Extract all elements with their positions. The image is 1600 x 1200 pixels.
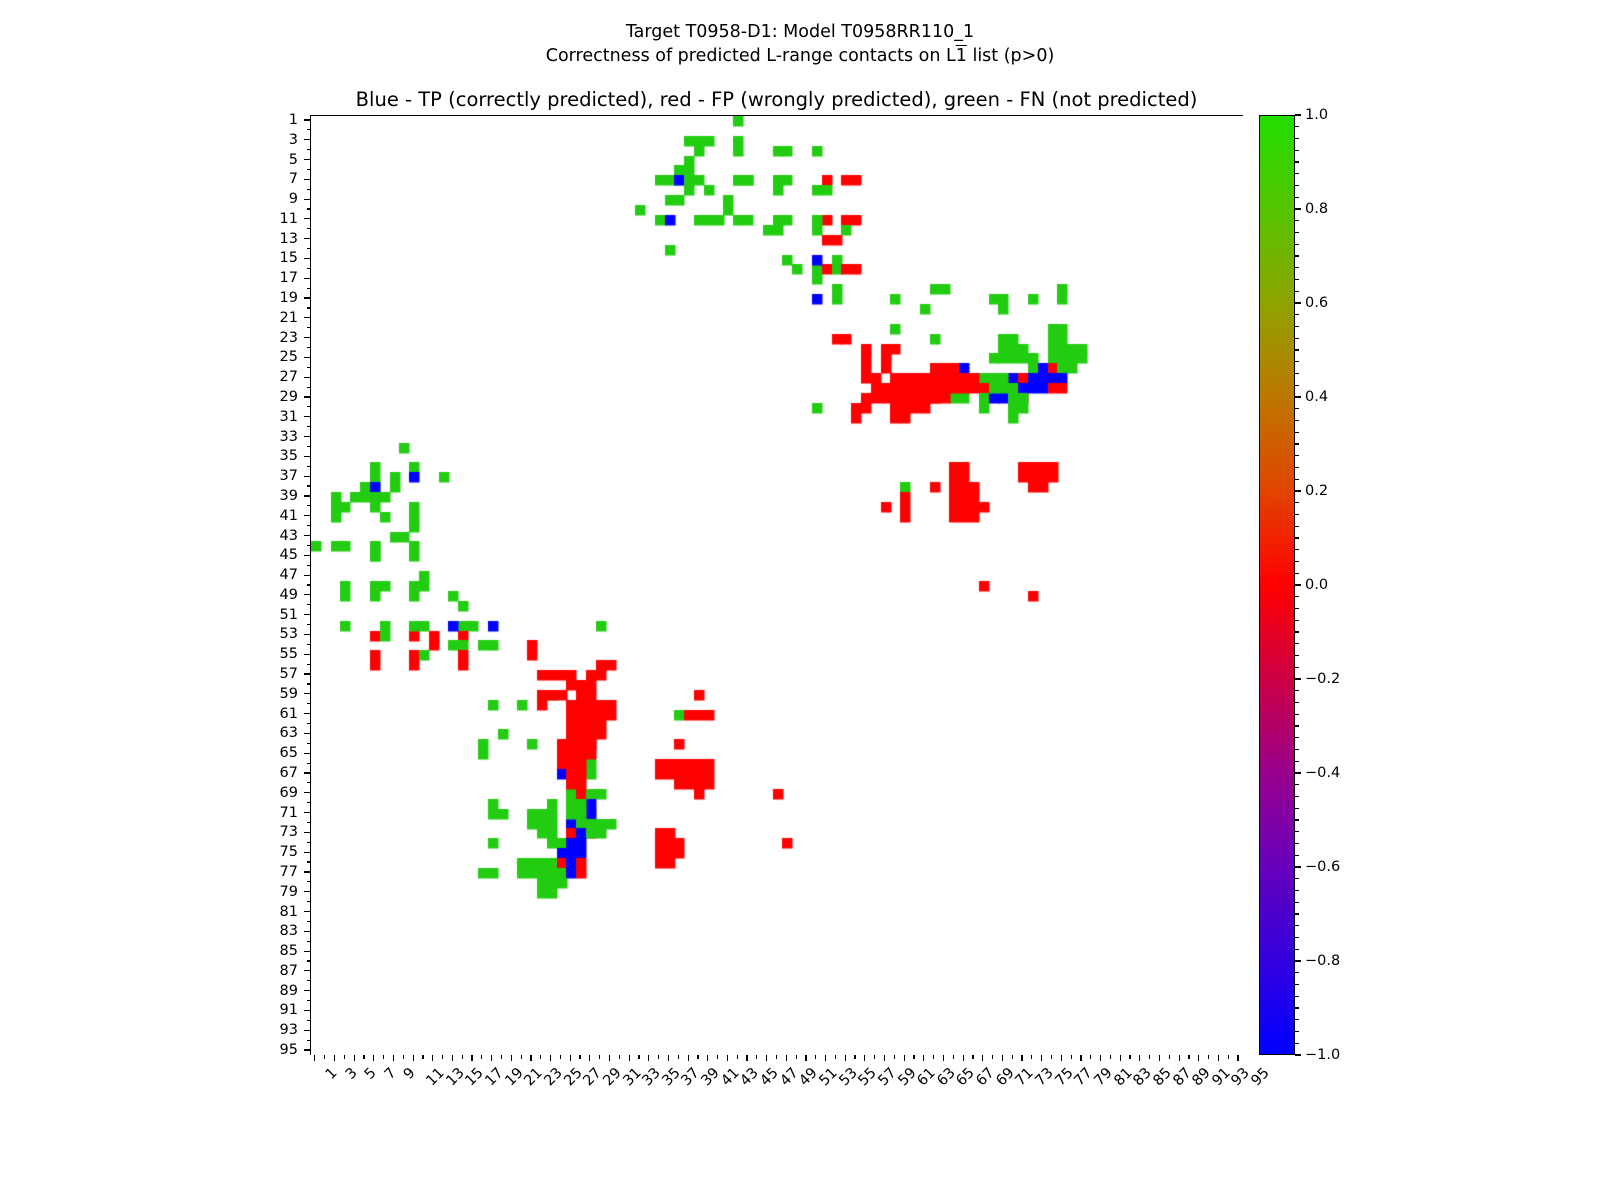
y-tick-label: 61 — [258, 707, 298, 721]
colorbar-tick-mark — [1295, 678, 1301, 679]
colorbar-tick-mark — [1295, 902, 1299, 903]
x-tick-label: 69 — [993, 1065, 1017, 1089]
x-tick-label: 13 — [443, 1065, 467, 1089]
colorbar-tick-mark — [1295, 620, 1299, 621]
y-tick-label: 49 — [258, 588, 298, 602]
y-tick-label: 29 — [258, 390, 298, 404]
colorbar-tick-mark — [1295, 949, 1299, 950]
x-tick-label: 21 — [522, 1065, 546, 1089]
y-tick-label: 65 — [258, 746, 298, 760]
y-tick-label: 9 — [258, 192, 298, 206]
colorbar-tick-mark — [1295, 267, 1299, 268]
colorbar-tick-mark — [1295, 443, 1299, 444]
x-tick-label: 41 — [718, 1065, 742, 1089]
x-tick-label: 51 — [816, 1065, 840, 1089]
colorbar-tick-mark — [1295, 937, 1299, 938]
contact-map-heatmap — [311, 116, 1244, 1056]
colorbar-tick-mark — [1295, 479, 1299, 480]
colorbar-tick-mark — [1295, 385, 1299, 386]
colorbar-tick-mark — [1295, 126, 1299, 127]
x-tick-label: 33 — [640, 1065, 664, 1089]
colorbar-tick-mark — [1295, 455, 1299, 456]
colorbar-tick-mark — [1295, 396, 1301, 397]
y-tick-label: 77 — [258, 865, 298, 879]
colorbar-tick-mark — [1295, 361, 1299, 362]
colorbar-tick-mark — [1295, 173, 1299, 174]
colorbar-tick-mark — [1295, 972, 1299, 973]
colorbar-tick-mark — [1295, 1054, 1301, 1055]
colorbar-tick-mark — [1295, 150, 1299, 151]
x-tick-label: 57 — [875, 1065, 899, 1089]
figure-title-line2: Correctness of predicted L-range contact… — [0, 44, 1600, 68]
y-tick-label: 67 — [258, 766, 298, 780]
x-tick-label: 63 — [934, 1065, 958, 1089]
x-tick-label: 15 — [463, 1065, 487, 1089]
colorbar-tick-mark — [1295, 314, 1299, 315]
x-tick-label: 55 — [856, 1065, 880, 1089]
colorbar-tick-mark — [1295, 655, 1299, 656]
colorbar-tick-mark — [1295, 831, 1299, 832]
colorbar-tick-mark — [1295, 866, 1301, 867]
colorbar — [1259, 115, 1295, 1055]
colorbar-tick-mark — [1295, 584, 1301, 585]
x-tick-label: 85 — [1150, 1065, 1174, 1089]
colorbar-tick-mark — [1295, 784, 1299, 785]
colorbar-tick-mark — [1295, 855, 1299, 856]
y-tick-label: 37 — [258, 469, 298, 483]
colorbar-tick-label: 0.6 — [1305, 295, 1328, 311]
x-tick-label: 67 — [973, 1065, 997, 1089]
colorbar-tick-mark — [1295, 114, 1301, 115]
y-tick-label: 21 — [258, 311, 298, 325]
x-tick-label: 37 — [679, 1065, 703, 1089]
x-tick-label: 27 — [581, 1065, 605, 1089]
colorbar-tick-mark — [1295, 561, 1299, 562]
colorbar-tick-mark — [1295, 631, 1299, 632]
x-tick-label: 61 — [915, 1065, 939, 1089]
y-tick-label: 89 — [258, 984, 298, 998]
x-tick-label: 7 — [382, 1065, 400, 1083]
colorbar-tick-mark — [1295, 643, 1299, 644]
y-tick-label: 41 — [258, 509, 298, 523]
y-tick-label: 13 — [258, 232, 298, 246]
colorbar-tick-mark — [1295, 737, 1299, 738]
colorbar-tick-mark — [1295, 549, 1299, 550]
x-tick-label: 95 — [1248, 1065, 1272, 1089]
y-tick-label: 83 — [258, 924, 298, 938]
colorbar-tick-mark — [1295, 161, 1299, 162]
y-tick-label: 17 — [258, 271, 298, 285]
x-tick-label: 89 — [1190, 1065, 1214, 1089]
x-tick-label: 79 — [1091, 1065, 1115, 1089]
colorbar-tick-label: 0.8 — [1305, 201, 1328, 217]
x-tick-label: 93 — [1229, 1065, 1253, 1089]
figure-title-line2-pre: Correctness of predicted L-range contact… — [546, 46, 956, 66]
colorbar-tick-mark — [1295, 185, 1299, 186]
colorbar-tick-mark — [1295, 279, 1299, 280]
x-tick-label: 43 — [738, 1065, 762, 1089]
colorbar-tick-mark — [1295, 890, 1299, 891]
y-tick-label: 85 — [258, 944, 298, 958]
x-tick-label: 17 — [482, 1065, 506, 1089]
y-tick-label: 35 — [258, 449, 298, 463]
x-tick-label: 49 — [797, 1065, 821, 1089]
colorbar-tick-mark — [1295, 208, 1301, 209]
x-tick-label: 29 — [600, 1065, 624, 1089]
colorbar-tick-label: 0.4 — [1305, 389, 1328, 405]
x-tick-label: 19 — [502, 1065, 526, 1089]
y-tick-label: 27 — [258, 370, 298, 384]
y-tick-label: 7 — [258, 172, 298, 186]
colorbar-tick-label: 1.0 — [1305, 107, 1328, 123]
y-tick-label: 25 — [258, 350, 298, 364]
x-tick-label: 9 — [401, 1065, 419, 1083]
y-tick-label: 31 — [258, 410, 298, 424]
colorbar-tick-mark — [1295, 761, 1299, 762]
colorbar-tick-mark — [1295, 796, 1299, 797]
colorbar-tick-mark — [1295, 420, 1299, 421]
colorbar-tick-label: −0.4 — [1305, 765, 1340, 781]
x-tick-label: 71 — [1013, 1065, 1037, 1089]
colorbar-gradient — [1259, 115, 1295, 1055]
colorbar-tick-mark — [1295, 1019, 1299, 1020]
y-tick-label: 15 — [258, 251, 298, 265]
x-tick-label: 1 — [323, 1065, 341, 1083]
colorbar-tick-mark — [1295, 1007, 1299, 1008]
colorbar-tick-mark — [1295, 1031, 1299, 1032]
colorbar-tick-mark — [1295, 220, 1299, 221]
y-tick-label: 5 — [258, 153, 298, 167]
colorbar-tick-mark — [1295, 702, 1299, 703]
y-tick-label: 95 — [258, 1043, 298, 1057]
colorbar-tick-mark — [1295, 326, 1299, 327]
y-tick-label: 63 — [258, 726, 298, 740]
colorbar-tick-mark — [1295, 490, 1301, 491]
colorbar-tick-mark — [1295, 197, 1299, 198]
colorbar-tick-mark — [1295, 878, 1299, 879]
x-tick-label: 53 — [836, 1065, 860, 1089]
x-tick-label: 5 — [362, 1065, 380, 1083]
x-tick-label: 91 — [1209, 1065, 1233, 1089]
colorbar-tick-mark — [1295, 502, 1299, 503]
colorbar-tick-mark — [1295, 690, 1299, 691]
x-tick-label: 75 — [1052, 1065, 1076, 1089]
colorbar-tick-mark — [1295, 913, 1299, 914]
contact-map-plot-area — [310, 115, 1243, 1055]
colorbar-tick-label: 0.2 — [1305, 483, 1328, 499]
colorbar-tick-mark — [1295, 514, 1299, 515]
colorbar-tick-mark — [1295, 537, 1299, 538]
y-tick-label: 45 — [258, 548, 298, 562]
x-tick-label: 73 — [1032, 1065, 1056, 1089]
y-tick-label: 81 — [258, 905, 298, 919]
colorbar-tick-mark — [1295, 749, 1299, 750]
colorbar-tick-mark — [1295, 1043, 1299, 1044]
x-tick-label: 83 — [1131, 1065, 1155, 1089]
colorbar-tick-mark — [1295, 725, 1299, 726]
x-tick-label: 23 — [541, 1065, 565, 1089]
colorbar-tick-label: −0.2 — [1305, 671, 1340, 687]
y-tick-label: 59 — [258, 687, 298, 701]
x-tick-label: 3 — [342, 1065, 360, 1083]
colorbar-tick-mark — [1295, 984, 1299, 985]
colorbar-tick-mark — [1295, 232, 1299, 233]
y-tick-label: 43 — [258, 529, 298, 543]
colorbar-tick-mark — [1295, 467, 1299, 468]
x-tick-label: 45 — [757, 1065, 781, 1089]
colorbar-tick-mark — [1295, 608, 1299, 609]
colorbar-tick-mark — [1295, 996, 1299, 997]
colorbar-tick-mark — [1295, 138, 1299, 139]
colorbar-tick-label: −1.0 — [1305, 1047, 1340, 1063]
colorbar-tick-mark — [1295, 843, 1299, 844]
y-tick-label: 11 — [258, 212, 298, 226]
y-tick-label: 19 — [258, 291, 298, 305]
x-tick-label: 65 — [954, 1065, 978, 1089]
colorbar-tick-label: 0.0 — [1305, 577, 1328, 593]
x-tick-label: 31 — [620, 1065, 644, 1089]
colorbar-tick-mark — [1295, 960, 1301, 961]
figure-title: Target T0958-D1: Model T0958RR110_1 Corr… — [0, 20, 1600, 68]
y-tick-label: 1 — [258, 113, 298, 127]
x-tick-label: 77 — [1072, 1065, 1096, 1089]
colorbar-tick-mark — [1295, 925, 1299, 926]
colorbar-tick-mark — [1295, 714, 1299, 715]
y-tick-label: 91 — [258, 1003, 298, 1017]
x-tick-label: 59 — [895, 1065, 919, 1089]
x-tick-label: 39 — [699, 1065, 723, 1089]
colorbar-tick-label: −0.6 — [1305, 859, 1340, 875]
colorbar-tick-mark — [1295, 772, 1301, 773]
x-tick-label: 81 — [1111, 1065, 1135, 1089]
colorbar-tick-mark — [1295, 667, 1299, 668]
colorbar-tick-mark — [1295, 302, 1301, 303]
y-tick-label: 39 — [258, 489, 298, 503]
y-tick-label: 87 — [258, 964, 298, 978]
y-tick-label: 57 — [258, 667, 298, 681]
colorbar-tick-mark — [1295, 432, 1299, 433]
figure-title-overbar-1: 1 — [956, 46, 967, 66]
colorbar-tick-mark — [1295, 244, 1299, 245]
colorbar-tick-mark — [1295, 291, 1299, 292]
colorbar-tick-mark — [1295, 255, 1299, 256]
colorbar-tick-label: −0.8 — [1305, 953, 1340, 969]
y-tick-label: 51 — [258, 608, 298, 622]
y-tick-label: 75 — [258, 845, 298, 859]
y-tick-label: 47 — [258, 568, 298, 582]
y-tick-label: 93 — [258, 1023, 298, 1037]
y-tick-label: 73 — [258, 825, 298, 839]
x-tick-label: 11 — [424, 1065, 448, 1089]
colorbar-tick-mark — [1295, 596, 1299, 597]
x-tick-label: 87 — [1170, 1065, 1194, 1089]
x-tick-label: 25 — [561, 1065, 585, 1089]
y-tick-label: 55 — [258, 647, 298, 661]
colorbar-tick-mark — [1295, 408, 1299, 409]
y-tick-label: 3 — [258, 133, 298, 147]
colorbar-tick-mark — [1295, 338, 1299, 339]
colorbar-tick-mark — [1295, 349, 1299, 350]
y-tick-label: 79 — [258, 885, 298, 899]
colorbar-tick-mark — [1295, 573, 1299, 574]
y-tick-label: 53 — [258, 627, 298, 641]
colorbar-tick-mark — [1295, 526, 1299, 527]
y-tick-label: 23 — [258, 331, 298, 345]
y-tick-label: 33 — [258, 430, 298, 444]
colorbar-tick-mark — [1295, 808, 1299, 809]
colorbar-tick-mark — [1295, 373, 1299, 374]
y-tick-label: 71 — [258, 806, 298, 820]
figure-title-line2-post: list (p>0) — [967, 46, 1054, 66]
x-tick-label: 35 — [659, 1065, 683, 1089]
x-tick-label: 47 — [777, 1065, 801, 1089]
axes-title-legend-description: Blue - TP (correctly predicted), red - F… — [310, 88, 1243, 111]
y-tick-label: 69 — [258, 786, 298, 800]
figure-title-line1: Target T0958-D1: Model T0958RR110_1 — [626, 22, 974, 42]
colorbar-tick-mark — [1295, 819, 1299, 820]
